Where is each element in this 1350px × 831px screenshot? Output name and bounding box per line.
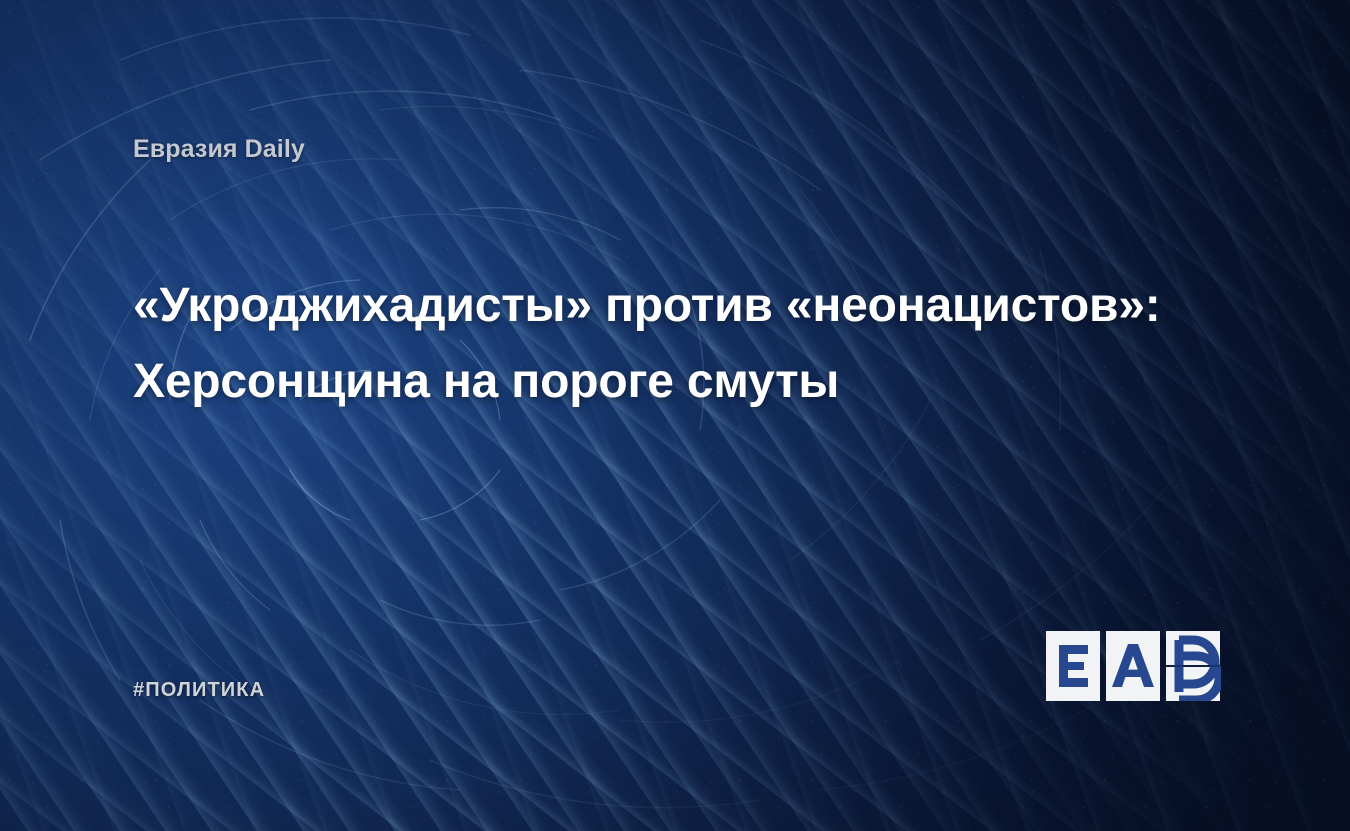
headline-title: «Укроджихадисты» против «неонацистов»: Х… [133, 268, 1203, 420]
logo-letter-e [1059, 645, 1088, 687]
site-brand-name: Евразия Daily [133, 134, 305, 164]
ead-logo [1046, 631, 1221, 701]
card-content: Евразия Daily «Укроджихадисты» против «н… [0, 0, 1350, 831]
category-hashtag: #ПОЛИТИКА [133, 679, 265, 702]
logo-tile-seam [1166, 665, 1220, 667]
social-share-card: Евразия Daily «Укроджихадисты» против «н… [0, 0, 1350, 831]
